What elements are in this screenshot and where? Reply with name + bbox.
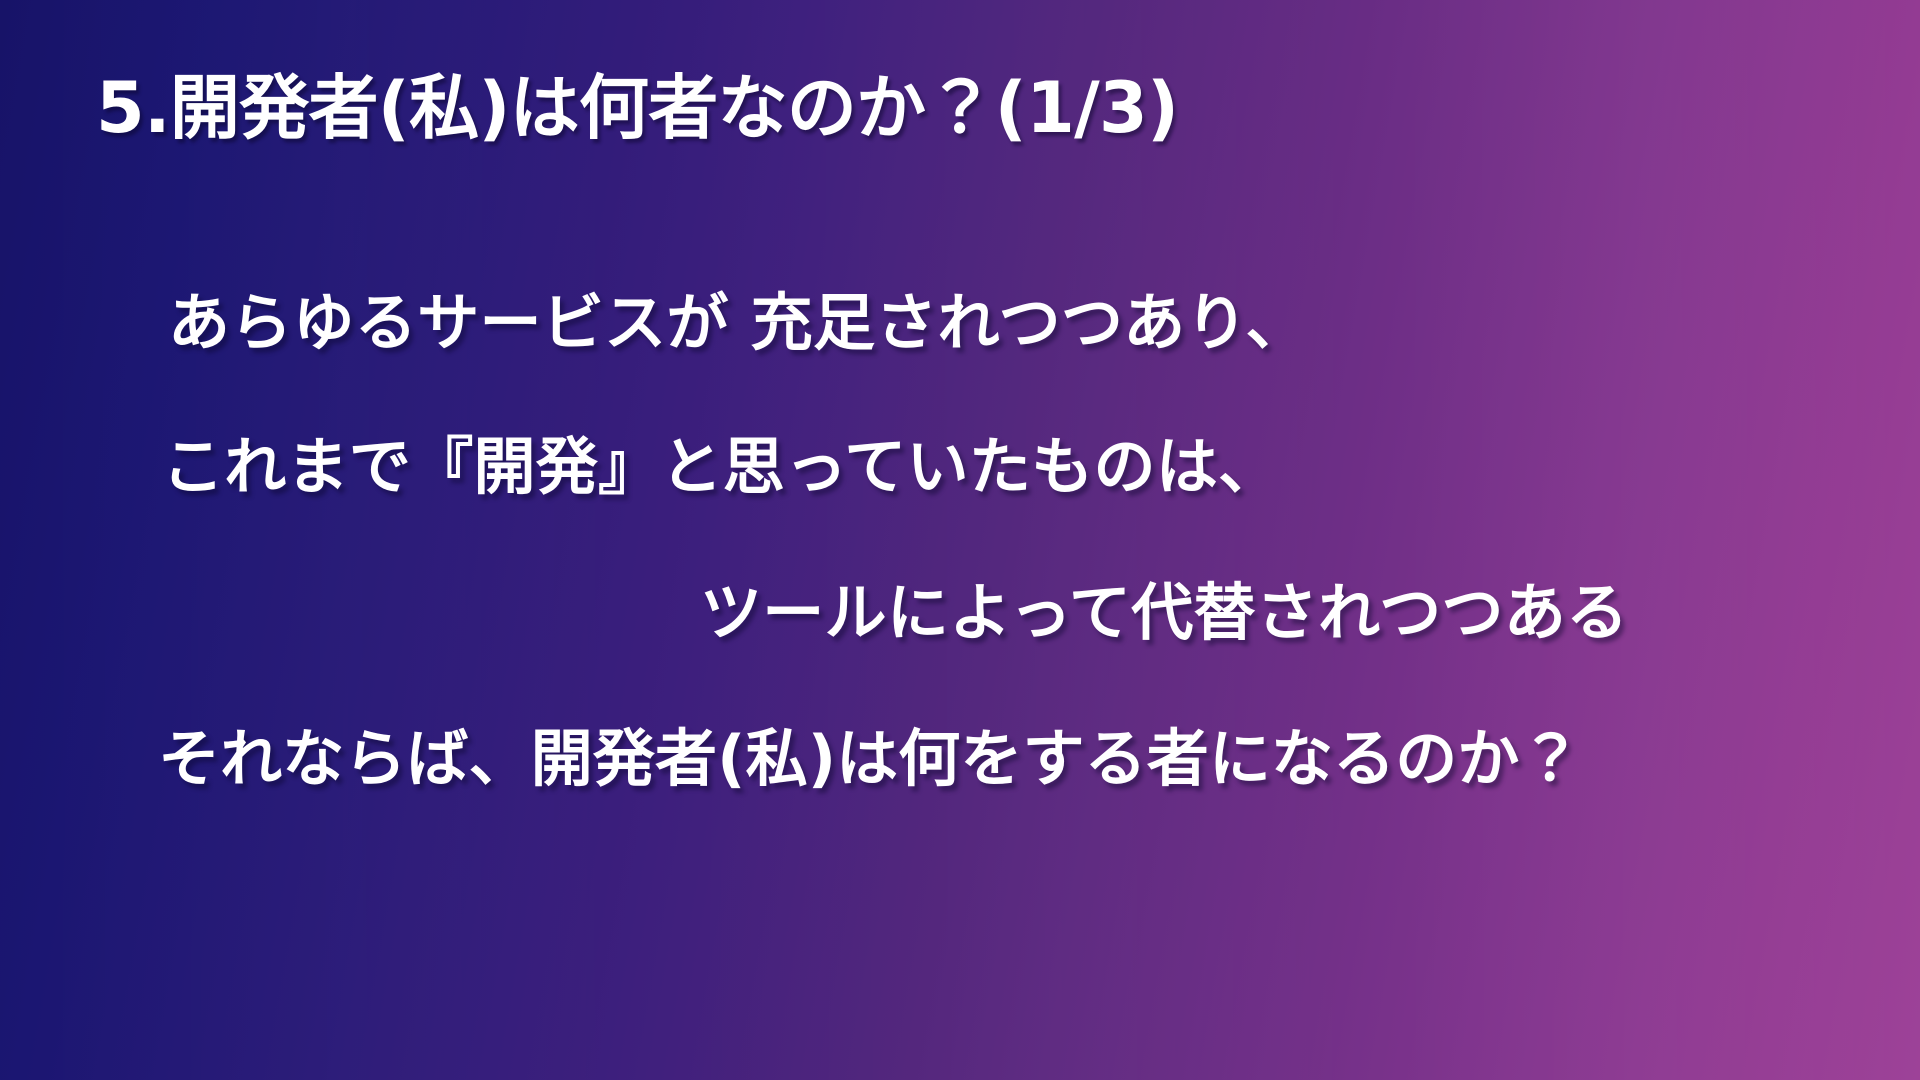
body-line-3: ツールによって代替されつつある — [700, 582, 1920, 644]
body-line-4: それならば、開発者(私)は何をする者になるのか？ — [158, 728, 1920, 790]
body-line-2: これまで『開発』と思っていたものは、 — [162, 436, 1920, 498]
body-line-1: あらゆるサービスが 充足されつつあり、 — [168, 292, 1920, 354]
slide-title: 5.開発者(私)は何者なのか？(1/3) — [96, 52, 1178, 153]
presentation-slide: 5.開発者(私)は何者なのか？(1/3) あらゆるサービスが 充足されつつあり、… — [0, 0, 1920, 1080]
slide-body: あらゆるサービスが 充足されつつあり、 これまで『開発』と思っていたものは、 ツ… — [0, 268, 1920, 790]
